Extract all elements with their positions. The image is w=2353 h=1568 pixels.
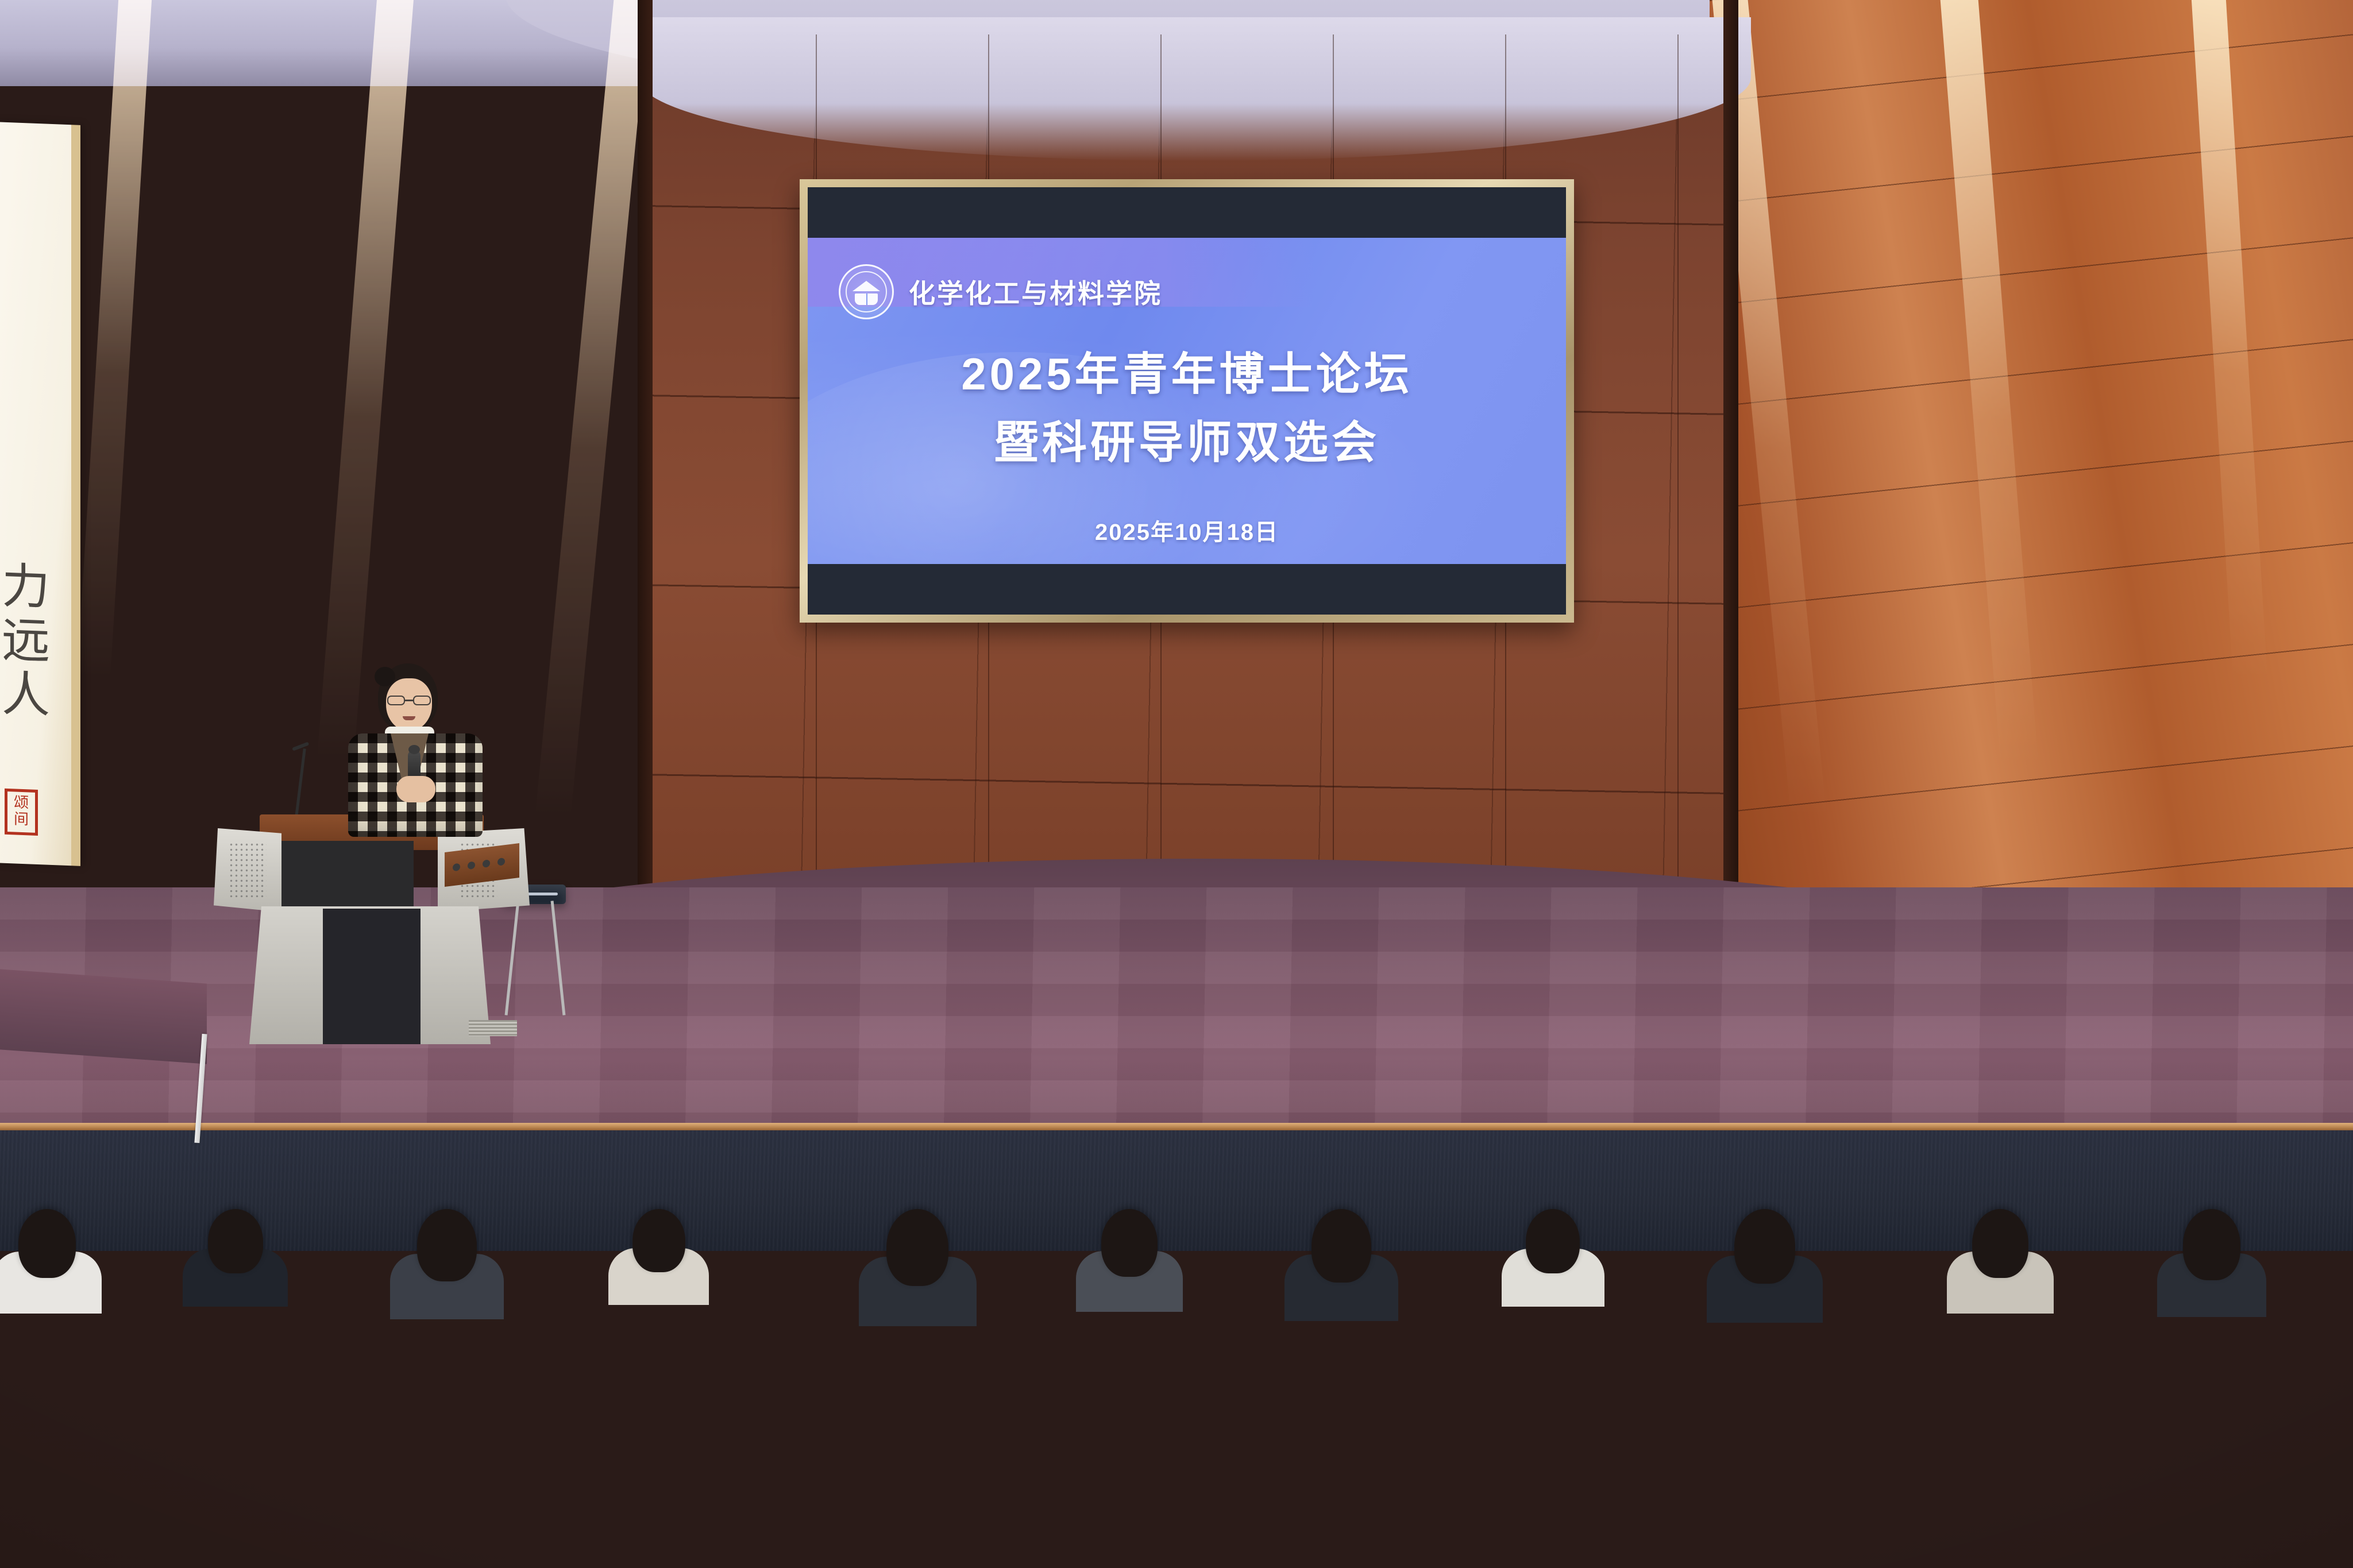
wall-light-strip	[535, 0, 650, 816]
audience-member-head	[417, 1209, 477, 1281]
audience-member-head	[2183, 1209, 2240, 1280]
wall-corner-left	[638, 0, 653, 919]
scroll-calligraphy-text: 力 远 人	[0, 558, 57, 723]
university-emblem-icon	[839, 264, 894, 319]
wall-panel-right	[1710, 0, 2353, 976]
wall-light-strip	[2192, 0, 2267, 678]
projection-screen-frame: 化学化工与材料学院 2025年青年博士论坛 暨科研导师双选会 2025年10月1…	[800, 179, 1574, 623]
presenter-mouth	[403, 716, 415, 720]
wall-light-strip	[317, 0, 414, 758]
podium-right-wing	[438, 828, 530, 912]
audience-seating	[0, 1209, 2353, 1568]
presenter-hands	[396, 776, 435, 802]
slide-title-line-2: 暨科研导师双选会	[808, 408, 1566, 477]
podium-control-panel[interactable]	[445, 843, 519, 887]
audience-member-head	[1311, 1209, 1371, 1283]
podium-speaker-grill	[229, 842, 267, 897]
audience-member-head	[886, 1209, 948, 1286]
slide-date: 2025年10月18日	[808, 513, 1566, 547]
audience-member-head	[18, 1209, 76, 1278]
audience-member-head	[208, 1209, 263, 1273]
audience-member-head	[632, 1209, 685, 1272]
wall-light-strip	[77, 0, 152, 678]
presenter-hair-bun	[375, 667, 395, 686]
podium-base-inset	[323, 909, 421, 1044]
presenter	[344, 663, 487, 836]
scroll-seal-stamp: 颂 间	[5, 789, 38, 836]
slide-department-name: 化学化工与材料学院	[909, 273, 1162, 311]
stage-step	[0, 969, 207, 1064]
podium-left-wing	[214, 828, 281, 912]
slide-title-line-1: 2025年青年博士论坛	[808, 340, 1566, 408]
audience-member-head	[1972, 1209, 2028, 1278]
glasses-icon	[386, 696, 432, 705]
calligraphy-scroll: 力 远 人 颂 间	[0, 122, 80, 866]
slide-header: 化学化工与材料学院	[839, 264, 1162, 319]
podium-vent	[469, 1020, 517, 1036]
projection-screen: 化学化工与材料学院 2025年青年博士论坛 暨科研导师双选会 2025年10月1…	[808, 187, 1566, 615]
audience-member-head	[1734, 1209, 1795, 1284]
auditorium-scene: 力 远 人 颂 间 化学化工与材料学院 2025年青年博士论坛	[0, 0, 2353, 1568]
wall-light-strip	[1941, 0, 2039, 764]
podium-front-panel	[281, 841, 414, 914]
slide-title-block: 2025年青年博士论坛 暨科研导师双选会	[808, 340, 1566, 476]
wall-corner-right	[1723, 0, 1738, 919]
presentation-slide: 化学化工与材料学院 2025年青年博士论坛 暨科研导师双选会 2025年10月1…	[808, 238, 1566, 564]
audience-member-head	[1526, 1209, 1580, 1273]
lectern-podium	[214, 814, 530, 1044]
screen-letterbox-top	[808, 187, 1566, 238]
screen-letterbox-bottom	[808, 564, 1566, 615]
audience-member-head	[1101, 1209, 1158, 1277]
